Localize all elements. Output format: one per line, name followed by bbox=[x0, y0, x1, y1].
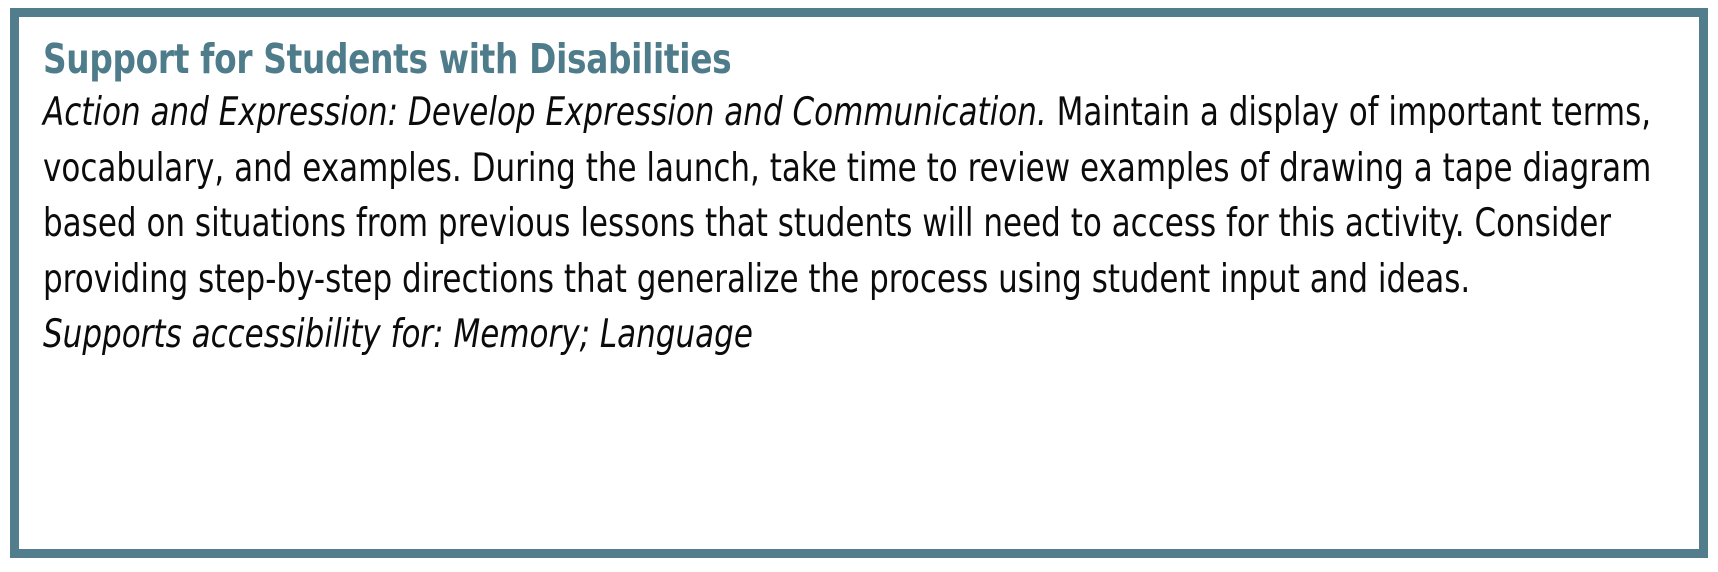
callout-body-paragraph: Action and Expression: Develop Expressio… bbox=[43, 85, 1677, 307]
callout-heading: Support for Students with Disabilities bbox=[43, 33, 1677, 85]
supports-accessibility-line: Supports accessibility for: Memory; Lang… bbox=[43, 307, 1677, 362]
page-canvas: Support for Students with Disabilities A… bbox=[0, 0, 1718, 572]
callout-lead-in-text: Action and Expression: Develop Expressio… bbox=[43, 90, 1047, 135]
callout-content: Support for Students with Disabilities A… bbox=[19, 17, 1699, 372]
support-for-students-with-disabilities-callout: Support for Students with Disabilities A… bbox=[10, 8, 1708, 558]
